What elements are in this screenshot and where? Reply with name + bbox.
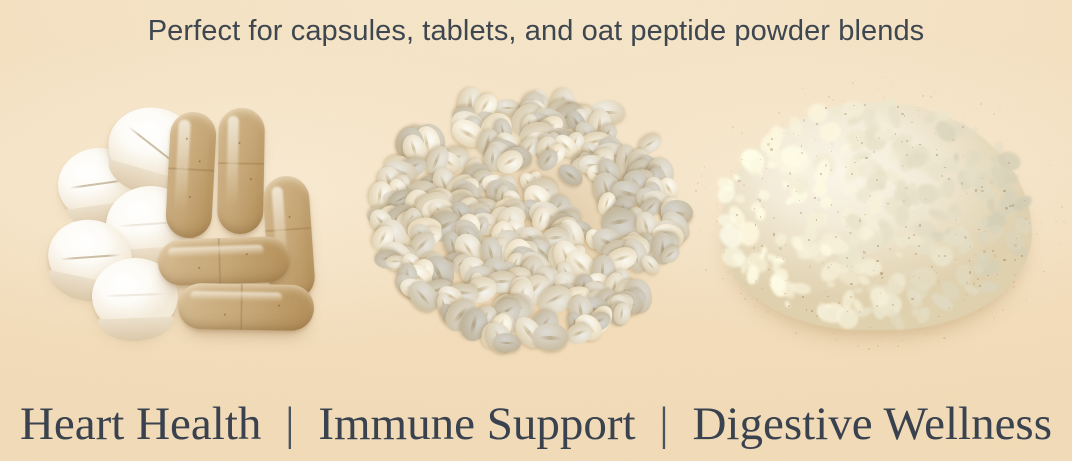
powder-grain <box>975 189 977 191</box>
powder-grain <box>938 281 939 282</box>
powder-grain <box>889 248 891 250</box>
oat-crease <box>458 127 479 141</box>
capsule-gloss <box>174 119 191 212</box>
powder-grain <box>816 219 818 221</box>
powder-dust-speck <box>754 306 756 308</box>
powder-grain <box>809 265 811 267</box>
powder-clump <box>887 104 904 130</box>
powder-dust-speck <box>930 96 932 98</box>
product-stage <box>0 72 1072 362</box>
powder-grain <box>969 271 971 273</box>
powder-dust-speck <box>1000 136 1002 138</box>
powder-grain <box>802 296 804 298</box>
powder-dust-speck <box>954 98 955 99</box>
powder-grain <box>925 199 926 200</box>
oat-crease <box>469 314 478 335</box>
oat-crease <box>498 341 516 345</box>
powder-dust-speck <box>842 100 844 102</box>
powder-grain <box>831 151 832 152</box>
powder-grain <box>918 110 919 111</box>
powder-grain <box>743 184 745 186</box>
powder-clump <box>818 195 834 211</box>
powder-clump <box>740 266 745 273</box>
powder-grain <box>864 202 866 204</box>
oat-crease <box>409 139 417 157</box>
powder-dust-speck <box>732 126 734 128</box>
powder-grain <box>762 178 763 179</box>
powder-dust-speck <box>989 323 990 324</box>
powder-grain <box>969 260 970 261</box>
powder-grain <box>964 236 967 239</box>
powder-grain <box>801 145 803 147</box>
powder-grain <box>776 257 778 259</box>
powder-dust-speck <box>1013 286 1015 288</box>
powder-grain <box>837 211 839 213</box>
powder-grain <box>897 106 899 108</box>
oats-pile <box>372 86 684 348</box>
powder-grain <box>814 197 816 199</box>
tagline: Heart Health | Immune Support | Digestiv… <box>0 395 1072 453</box>
powder-grain <box>865 157 868 160</box>
powder-dust-speck <box>1063 221 1065 223</box>
powder-dust-speck <box>1002 309 1004 311</box>
powder-grain <box>771 138 773 140</box>
powder-grain <box>757 198 759 200</box>
powder-grain <box>906 154 908 156</box>
powder-grain <box>803 119 806 122</box>
powder-clump <box>806 102 830 124</box>
powder-dust-speck <box>1049 165 1050 166</box>
powder-grain <box>753 247 755 249</box>
tagline-item-digestive-wellness: Digestive Wellness <box>692 398 1052 450</box>
oat-crease <box>499 106 515 109</box>
powder-dust-speck <box>1043 271 1044 272</box>
powder-grain <box>782 291 783 292</box>
powder-dust-speck <box>1061 206 1063 208</box>
powder-grain <box>1014 244 1016 246</box>
capsule-speck <box>224 314 226 316</box>
powder-grain <box>831 204 832 205</box>
powder-dust-speck <box>881 340 883 342</box>
powder-dust-speck <box>980 103 982 105</box>
oat-crease <box>539 336 561 341</box>
powder-clump <box>853 288 863 294</box>
powder-texture <box>712 94 1042 344</box>
powder-grain <box>822 262 824 264</box>
powder-clump <box>978 281 999 293</box>
powder-dust-speck <box>778 112 780 114</box>
oat-crease <box>664 249 676 259</box>
powder-dust-speck <box>745 283 747 285</box>
powder-grain <box>966 294 968 296</box>
powder-grain <box>806 309 807 310</box>
powder-dust-speck <box>795 332 797 334</box>
powder-dust-speck <box>802 88 804 90</box>
powder-grain <box>978 229 980 231</box>
capsule-speck <box>246 253 248 255</box>
product-group-rolled-oats <box>372 86 684 348</box>
powder-dust-speck <box>882 77 883 78</box>
powder-grain <box>759 199 762 202</box>
powder-dust-speck <box>716 221 718 223</box>
powder-dust-speck <box>780 311 781 312</box>
powder-dust-speck <box>853 334 854 335</box>
powder-grain <box>904 115 906 117</box>
powder-grain <box>956 234 957 235</box>
capsule-speck <box>189 196 191 198</box>
powder-grain <box>788 305 790 307</box>
powder-dust-speck <box>829 329 830 330</box>
powder-dust-speck <box>1040 221 1041 222</box>
powder-clump <box>894 251 903 258</box>
powder-grain <box>850 283 853 286</box>
powder-clump <box>787 291 795 298</box>
powder-dust-speck <box>712 235 714 237</box>
powder-grain <box>881 277 883 279</box>
powder-grain <box>992 250 995 253</box>
powder-dust-speck <box>833 332 835 334</box>
powder-grain <box>956 297 958 299</box>
powder-dust-speck <box>964 118 965 119</box>
powder-grain <box>962 126 964 128</box>
powder-dust-speck <box>697 182 699 184</box>
powder-clump <box>812 182 828 197</box>
powder-dust-speck <box>897 345 899 347</box>
oat-crease <box>414 288 431 307</box>
powder-grain <box>994 255 996 257</box>
powder-dust-speck <box>971 100 973 102</box>
powder-dust-speck <box>705 187 706 188</box>
powder-grain <box>912 147 913 148</box>
powder-grain <box>997 274 998 275</box>
powder-grain <box>766 163 767 164</box>
powder-grain <box>934 270 936 272</box>
headline-text: Perfect for capsules, tablets, and oat p… <box>0 14 1072 48</box>
powder-grain <box>919 144 921 146</box>
oat-crease <box>537 211 543 227</box>
powder-dust-speck <box>877 87 879 89</box>
powder-grain <box>1006 207 1008 209</box>
capsule <box>157 236 291 287</box>
capsule <box>165 111 218 239</box>
powder-grain <box>783 132 785 134</box>
powder-grain <box>815 139 816 140</box>
powder-grain <box>831 143 833 145</box>
capsule-speck <box>278 305 280 307</box>
powder-grain <box>770 148 773 151</box>
oat-crease <box>642 139 657 150</box>
powder-grain <box>955 259 956 260</box>
oat-crease <box>608 218 631 226</box>
powder-grain <box>763 207 764 208</box>
powder-dust-speck <box>1054 184 1055 185</box>
tagline-item-immune-support: Immune Support <box>318 398 635 450</box>
powder-dust-speck <box>934 91 935 92</box>
powder-grain <box>785 280 787 282</box>
powder-dust-speck <box>757 298 759 300</box>
powder-clump <box>734 194 745 204</box>
oat-crease <box>502 155 518 166</box>
powder-dust-speck <box>936 333 937 334</box>
powder-dust-speck <box>943 337 945 339</box>
powder-clump <box>893 204 911 228</box>
powder-grain <box>955 219 956 220</box>
powder-grain <box>768 269 770 271</box>
powder-clump <box>838 141 852 154</box>
tagline-separator: | <box>647 398 680 450</box>
powder-grain <box>739 180 741 182</box>
tagline-item-heart-health: Heart Health <box>20 398 261 450</box>
tagline-separator: | <box>273 398 306 450</box>
powder-grain <box>811 310 813 312</box>
powder-dust-speck <box>1036 233 1038 235</box>
powder-dust-speck <box>915 334 916 335</box>
powder-dust-speck <box>883 96 885 98</box>
capsule-joint <box>218 162 264 166</box>
powder-grain <box>892 304 894 306</box>
powder-clump <box>941 177 955 198</box>
powder-grain <box>853 105 854 106</box>
powder-clump <box>869 190 881 215</box>
powder-grain <box>936 272 937 273</box>
powder-grain <box>773 217 775 219</box>
powder-grain <box>758 192 759 193</box>
powder-grain <box>782 124 783 125</box>
powder-clump <box>819 121 842 142</box>
powder-grain <box>905 226 907 228</box>
powder-grain <box>1014 259 1017 262</box>
powder-dust-speck <box>891 85 892 86</box>
powder-grain <box>816 123 818 125</box>
powder-grain <box>870 327 871 328</box>
capsule <box>217 108 265 235</box>
powder-grain <box>1013 173 1014 174</box>
powder-dust-speck <box>857 345 859 347</box>
powder-clump <box>955 264 972 286</box>
powder-dust-speck <box>752 132 753 133</box>
powder-grain <box>938 316 939 317</box>
oat-crease <box>491 151 495 168</box>
powder-grain <box>825 164 828 167</box>
powder-grain <box>838 302 840 304</box>
powder-dust-speck <box>727 271 729 273</box>
powder-clump <box>885 307 907 332</box>
powder-dust-speck <box>877 345 879 347</box>
powder-dust-speck <box>701 175 703 177</box>
powder-grain <box>878 137 880 139</box>
powder-grain <box>1024 200 1025 201</box>
capsule-speck <box>238 142 240 144</box>
powder-grain <box>762 288 763 289</box>
powder-grain <box>973 283 975 285</box>
powder-dust-speck <box>695 190 697 192</box>
powder-grain <box>800 212 802 214</box>
capsule <box>178 283 315 331</box>
powder-dust-speck <box>852 82 854 84</box>
powder-dust-speck <box>901 340 903 342</box>
powder-grain <box>948 178 950 180</box>
powder-dust-speck <box>731 130 732 131</box>
tablet-score-line <box>104 293 166 297</box>
powder-dust-speck <box>767 311 769 313</box>
powder-grain <box>779 247 782 250</box>
powder-grain <box>852 266 853 267</box>
powder-dust-speck <box>919 332 920 333</box>
powder-dust-speck <box>716 205 717 206</box>
powder-grain <box>1003 259 1005 261</box>
powder-grain <box>877 245 879 247</box>
powder-grain <box>906 140 908 142</box>
powder-dust-speck <box>704 166 706 168</box>
powder-grain <box>981 190 983 192</box>
powder-grain <box>755 280 757 282</box>
capsule-joint <box>265 226 311 232</box>
powder-grain <box>977 278 979 280</box>
powder-clump <box>827 282 835 287</box>
oat-crease <box>646 259 656 271</box>
powder-grain <box>969 246 971 248</box>
powder-grain <box>766 168 767 169</box>
tablet-score-line <box>60 253 120 259</box>
powder-grain <box>799 200 800 201</box>
powder-dust-speck <box>722 278 724 280</box>
powder-dust-speck <box>883 100 884 101</box>
powder-dust-speck <box>1007 290 1008 291</box>
capsule-speck <box>250 178 252 180</box>
powder-grain <box>818 199 820 201</box>
powder-dust-speck <box>1058 244 1060 246</box>
powder-grain <box>880 272 882 274</box>
powder-grain <box>919 115 920 116</box>
capsule-speck <box>288 216 290 218</box>
capsule-joint <box>240 284 244 330</box>
oat-crease <box>570 329 587 338</box>
powder-grain <box>755 224 757 226</box>
capsule-gloss <box>226 116 239 206</box>
powder-grain <box>1029 223 1030 224</box>
powder-grain <box>835 236 837 238</box>
powder-grain <box>846 257 848 259</box>
oat-crease <box>562 169 577 181</box>
powder-dust-speck <box>969 111 970 112</box>
powder-grain <box>849 232 852 235</box>
powder-grain <box>931 266 933 268</box>
capsule-speck <box>186 138 188 140</box>
powder-grain <box>777 255 778 256</box>
powder-grain <box>919 224 921 226</box>
capsule-speck <box>199 160 201 162</box>
powder-dust-speck <box>705 269 707 271</box>
product-banner: Perfect for capsules, tablets, and oat p… <box>0 0 1072 461</box>
powder-grain <box>915 253 917 255</box>
powder-grain <box>827 296 829 298</box>
powder-dust-speck <box>1001 131 1002 132</box>
oat-crease <box>413 237 428 253</box>
powder-dust-speck <box>982 303 983 304</box>
powder-grain <box>736 214 738 216</box>
powder-grain <box>847 265 849 267</box>
powder-grain <box>864 104 866 106</box>
powder-grain <box>785 244 787 246</box>
powder-grain <box>857 140 858 141</box>
powder-dust-speck <box>993 113 995 115</box>
oat-crease <box>547 235 565 239</box>
powder-grain <box>936 149 937 150</box>
powder-dust-speck <box>728 291 729 292</box>
powder-grain <box>767 143 770 146</box>
powder-grain <box>966 193 967 194</box>
powder-dust-speck <box>1013 281 1015 283</box>
powder-grain <box>862 257 864 259</box>
powder-dust-speck <box>741 132 743 134</box>
powder-dust-speck <box>828 96 830 98</box>
powder-dust-speck <box>740 293 741 294</box>
powder-dust-speck <box>925 333 927 335</box>
powder-clump <box>755 207 766 220</box>
powder-dust-speck <box>916 346 917 347</box>
powder-grain <box>874 275 875 276</box>
powder-dust-speck <box>730 170 732 172</box>
oat-crease <box>612 254 632 263</box>
powder-grain <box>938 255 941 258</box>
powder-dust-speck <box>925 340 926 341</box>
powder-grain <box>773 233 776 236</box>
capsule-gloss <box>190 291 282 302</box>
capsule-speck <box>198 267 200 269</box>
powder-grain <box>859 220 861 222</box>
product-group-protein-powder <box>712 94 1042 344</box>
powder-dust-speck <box>922 95 924 97</box>
powder-grain <box>869 110 871 112</box>
powder-dust-speck <box>994 318 995 319</box>
powder-grain <box>963 156 964 157</box>
oat-crease <box>542 153 553 167</box>
powder-dust-speck <box>868 348 870 350</box>
powder-grain <box>983 250 986 253</box>
powder-dust-speck <box>744 298 746 300</box>
powder-clump <box>774 231 789 247</box>
capsule-gloss <box>168 245 264 258</box>
powder-grain <box>825 291 826 292</box>
powder-grain <box>911 122 913 124</box>
powder-dust-speck <box>832 99 834 101</box>
powder-grain <box>1025 218 1027 220</box>
powder-grain <box>873 270 874 271</box>
powder-dust-speck <box>835 339 837 341</box>
powder-grain <box>745 220 746 221</box>
oat-crease <box>543 292 565 305</box>
powder-dust-speck <box>1007 294 1008 295</box>
powder-dust-speck <box>980 309 982 311</box>
powder-dust-speck <box>1026 298 1028 300</box>
powder-grain <box>873 151 875 153</box>
oat-crease <box>619 306 623 320</box>
powder-grain <box>936 154 938 156</box>
powder-dust-speck <box>999 109 1001 111</box>
powder-dust-speck <box>699 231 700 232</box>
product-group-tablets-capsules <box>40 80 350 340</box>
powder-dust-speck <box>1014 274 1016 276</box>
powder-dust-speck <box>1055 221 1057 223</box>
powder-grain <box>964 300 965 301</box>
powder-grain <box>827 266 829 268</box>
powder-grain <box>905 241 906 242</box>
oat-crease <box>389 260 403 262</box>
oat-crease <box>377 186 383 205</box>
powder-grain <box>754 208 755 209</box>
capsule-joint <box>217 238 222 284</box>
powder-grain <box>876 305 878 307</box>
